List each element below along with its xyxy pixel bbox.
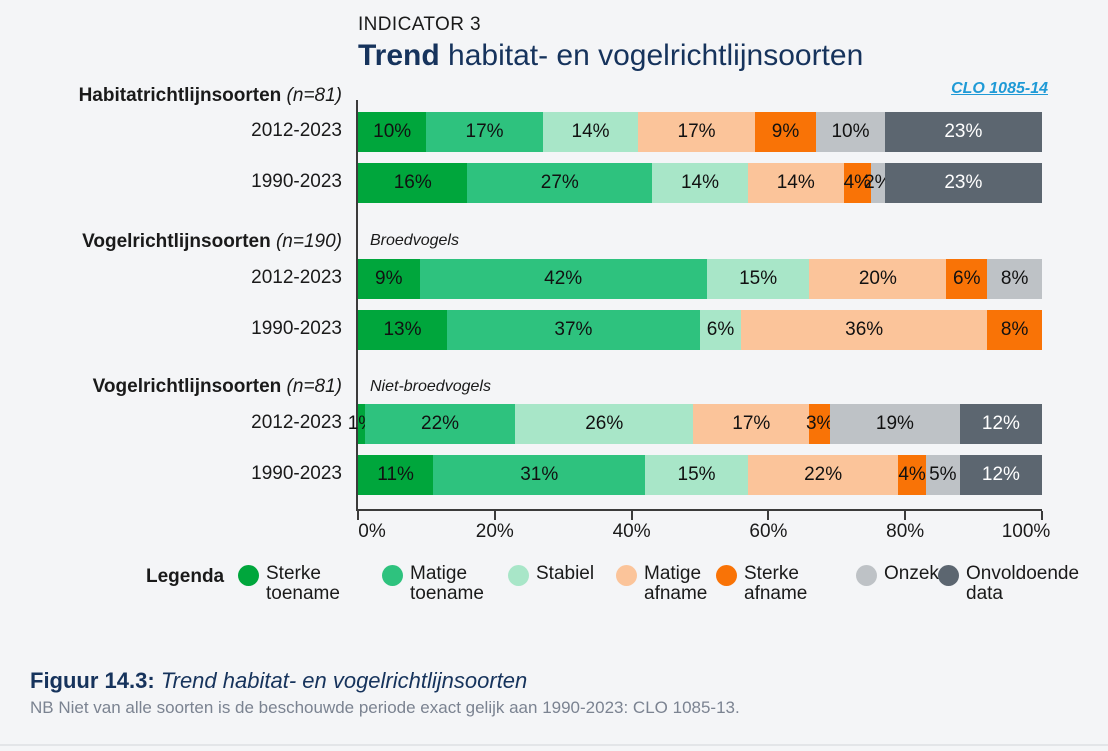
legend-swatch-icon	[382, 565, 403, 586]
x-axis-tick	[904, 511, 906, 520]
label-text: 1990-2023	[251, 171, 342, 192]
bar-row[interactable]: 1%22%26%17%3%19%12%	[358, 404, 1042, 444]
bar-row[interactable]: 11%31%15%22%4%5%12%	[358, 455, 1042, 495]
sample-size: (n=81)	[281, 376, 342, 397]
x-axis-tick-label: 40%	[613, 521, 651, 543]
legend-swatch-icon	[238, 565, 259, 586]
bar-segment[interactable]: 2%	[871, 163, 885, 203]
stacked-bar-chart: Habitatrichtlijnsoorten (n=81)2012-20231…	[0, 0, 1108, 560]
bar-segment[interactable]: 37%	[447, 310, 700, 350]
x-axis-tick-label: 80%	[886, 521, 924, 543]
x-axis-tick	[494, 511, 496, 520]
legend-item[interactable]: Stabiel	[508, 564, 594, 586]
bar-segment[interactable]: 9%	[358, 259, 420, 299]
bar-segment[interactable]: 42%	[420, 259, 707, 299]
group-label: Vogelrichtlijnsoorten (n=81)	[12, 376, 342, 398]
sample-size: (n=81)	[281, 85, 342, 106]
bar-segment[interactable]: 12%	[960, 404, 1042, 444]
bar-segment[interactable]: 36%	[741, 310, 987, 350]
bar-segment[interactable]: 20%	[809, 259, 946, 299]
bar-segment[interactable]: 6%	[700, 310, 741, 350]
bar-segment[interactable]: 8%	[987, 259, 1042, 299]
legend-title: Legenda	[146, 566, 224, 588]
bar-segment[interactable]: 11%	[358, 455, 433, 495]
bar-segment[interactable]: 5%	[926, 455, 960, 495]
legend-swatch-icon	[616, 565, 637, 586]
legend-item[interactable]: Sterke toename	[238, 564, 340, 604]
figure-caption: Figuur 14.3: Trend habitat- en vogelrich…	[30, 668, 1080, 718]
legend-swatch-icon	[716, 565, 737, 586]
bar-segment[interactable]: 17%	[426, 112, 542, 152]
x-axis-tick	[767, 511, 769, 520]
bar-segment[interactable]: 13%	[358, 310, 447, 350]
x-axis-tick	[1041, 511, 1043, 520]
bar-segment[interactable]: 22%	[365, 404, 515, 444]
legend-item[interactable]: Matige afname	[616, 564, 707, 604]
bar-segment[interactable]: 8%	[987, 310, 1042, 350]
bar-segment[interactable]: 12%	[960, 455, 1042, 495]
x-axis-tick	[357, 511, 359, 520]
legend-label: Matige afname	[644, 564, 707, 604]
x-axis-tick-label: 20%	[476, 521, 514, 543]
figure-title: Trend habitat- en vogelrichtlijnsoorten	[161, 668, 527, 693]
sample-size: (n=190)	[271, 231, 342, 252]
bar-segment[interactable]: 16%	[358, 163, 467, 203]
x-axis-tick-label: 100%	[1002, 521, 1051, 543]
bar-segment[interactable]: 14%	[543, 112, 639, 152]
bar-segment[interactable]: 26%	[515, 404, 693, 444]
bar-row[interactable]: 13%37%6%36%8%	[358, 310, 1042, 350]
label-text: Vogelrichtlijnsoorten	[82, 231, 271, 252]
x-axis-tick	[631, 511, 633, 520]
period-label: 1990-2023	[12, 171, 342, 193]
bar-row[interactable]: 9%42%15%20%6%8%	[358, 259, 1042, 299]
period-label: 1990-2023	[12, 318, 342, 340]
figure-label: Figuur 14.3:	[30, 668, 155, 693]
bar-segment[interactable]: 14%	[748, 163, 844, 203]
legend-label: Matige toename	[410, 564, 484, 604]
label-text: 2012-2023	[251, 267, 342, 288]
legend-label: Sterke toename	[266, 564, 340, 604]
bar-segment[interactable]: 22%	[748, 455, 898, 495]
bottom-divider	[0, 744, 1108, 746]
legend-label: Onvoldoende data	[966, 564, 1079, 604]
label-text: 2012-2023	[251, 412, 342, 433]
bar-segment[interactable]: 17%	[693, 404, 809, 444]
bar-segment[interactable]: 4%	[898, 455, 925, 495]
chart-legend: Legenda Sterke toenameMatige toenameStab…	[0, 556, 1108, 616]
label-text: 1990-2023	[251, 318, 342, 339]
x-axis-line	[356, 509, 1042, 511]
bar-segment[interactable]: 10%	[358, 112, 426, 152]
bar-segment[interactable]: 10%	[816, 112, 884, 152]
period-label: 2012-2023	[12, 267, 342, 289]
period-label: 2012-2023	[12, 120, 342, 142]
legend-item[interactable]: Onvoldoende data	[938, 564, 1079, 604]
caption-title-line: Figuur 14.3: Trend habitat- en vogelrich…	[30, 668, 1080, 694]
subgroup-label: Broedvogels	[370, 232, 459, 250]
period-label: 2012-2023	[12, 412, 342, 434]
label-text: 1990-2023	[251, 463, 342, 484]
bar-segment[interactable]: 17%	[638, 112, 754, 152]
bar-row[interactable]: 10%17%14%17%9%10%23%	[358, 112, 1042, 152]
label-text: Habitatrichtlijnsoorten	[79, 85, 282, 106]
legend-item[interactable]: Matige toename	[382, 564, 484, 604]
bar-segment[interactable]: 19%	[830, 404, 960, 444]
label-text: Vogelrichtlijnsoorten	[93, 376, 282, 397]
bar-segment[interactable]: 23%	[885, 163, 1042, 203]
legend-label: Stabiel	[536, 564, 594, 584]
group-label: Habitatrichtlijnsoorten (n=81)	[12, 85, 342, 107]
period-label: 1990-2023	[12, 463, 342, 485]
bar-segment[interactable]: 15%	[645, 455, 748, 495]
bar-row[interactable]: 16%27%14%14%4%2%23%	[358, 163, 1042, 203]
x-axis-tick-label: 60%	[749, 521, 787, 543]
bar-segment[interactable]: 9%	[755, 112, 817, 152]
legend-swatch-icon	[856, 565, 877, 586]
subgroup-label: Niet-broedvogels	[370, 378, 491, 396]
bar-segment[interactable]: 27%	[467, 163, 652, 203]
legend-swatch-icon	[508, 565, 529, 586]
legend-label: Sterke afname	[744, 564, 807, 604]
bar-segment[interactable]: 15%	[707, 259, 810, 299]
bar-segment[interactable]: 1%	[358, 404, 365, 444]
bar-segment[interactable]: 3%	[809, 404, 830, 444]
bar-segment[interactable]: 14%	[652, 163, 748, 203]
y-axis-line	[356, 100, 358, 510]
bar-segment[interactable]: 6%	[946, 259, 987, 299]
legend-item[interactable]: Sterke afname	[716, 564, 807, 604]
x-axis-tick-label: 0%	[358, 521, 385, 543]
legend-swatch-icon	[938, 565, 959, 586]
label-text: 2012-2023	[251, 120, 342, 141]
bar-segment[interactable]: 31%	[433, 455, 645, 495]
group-label: Vogelrichtlijnsoorten (n=190)	[12, 231, 342, 253]
caption-note: NB Niet van alle soorten is de beschouwd…	[30, 698, 1080, 718]
bar-segment[interactable]: 23%	[885, 112, 1042, 152]
